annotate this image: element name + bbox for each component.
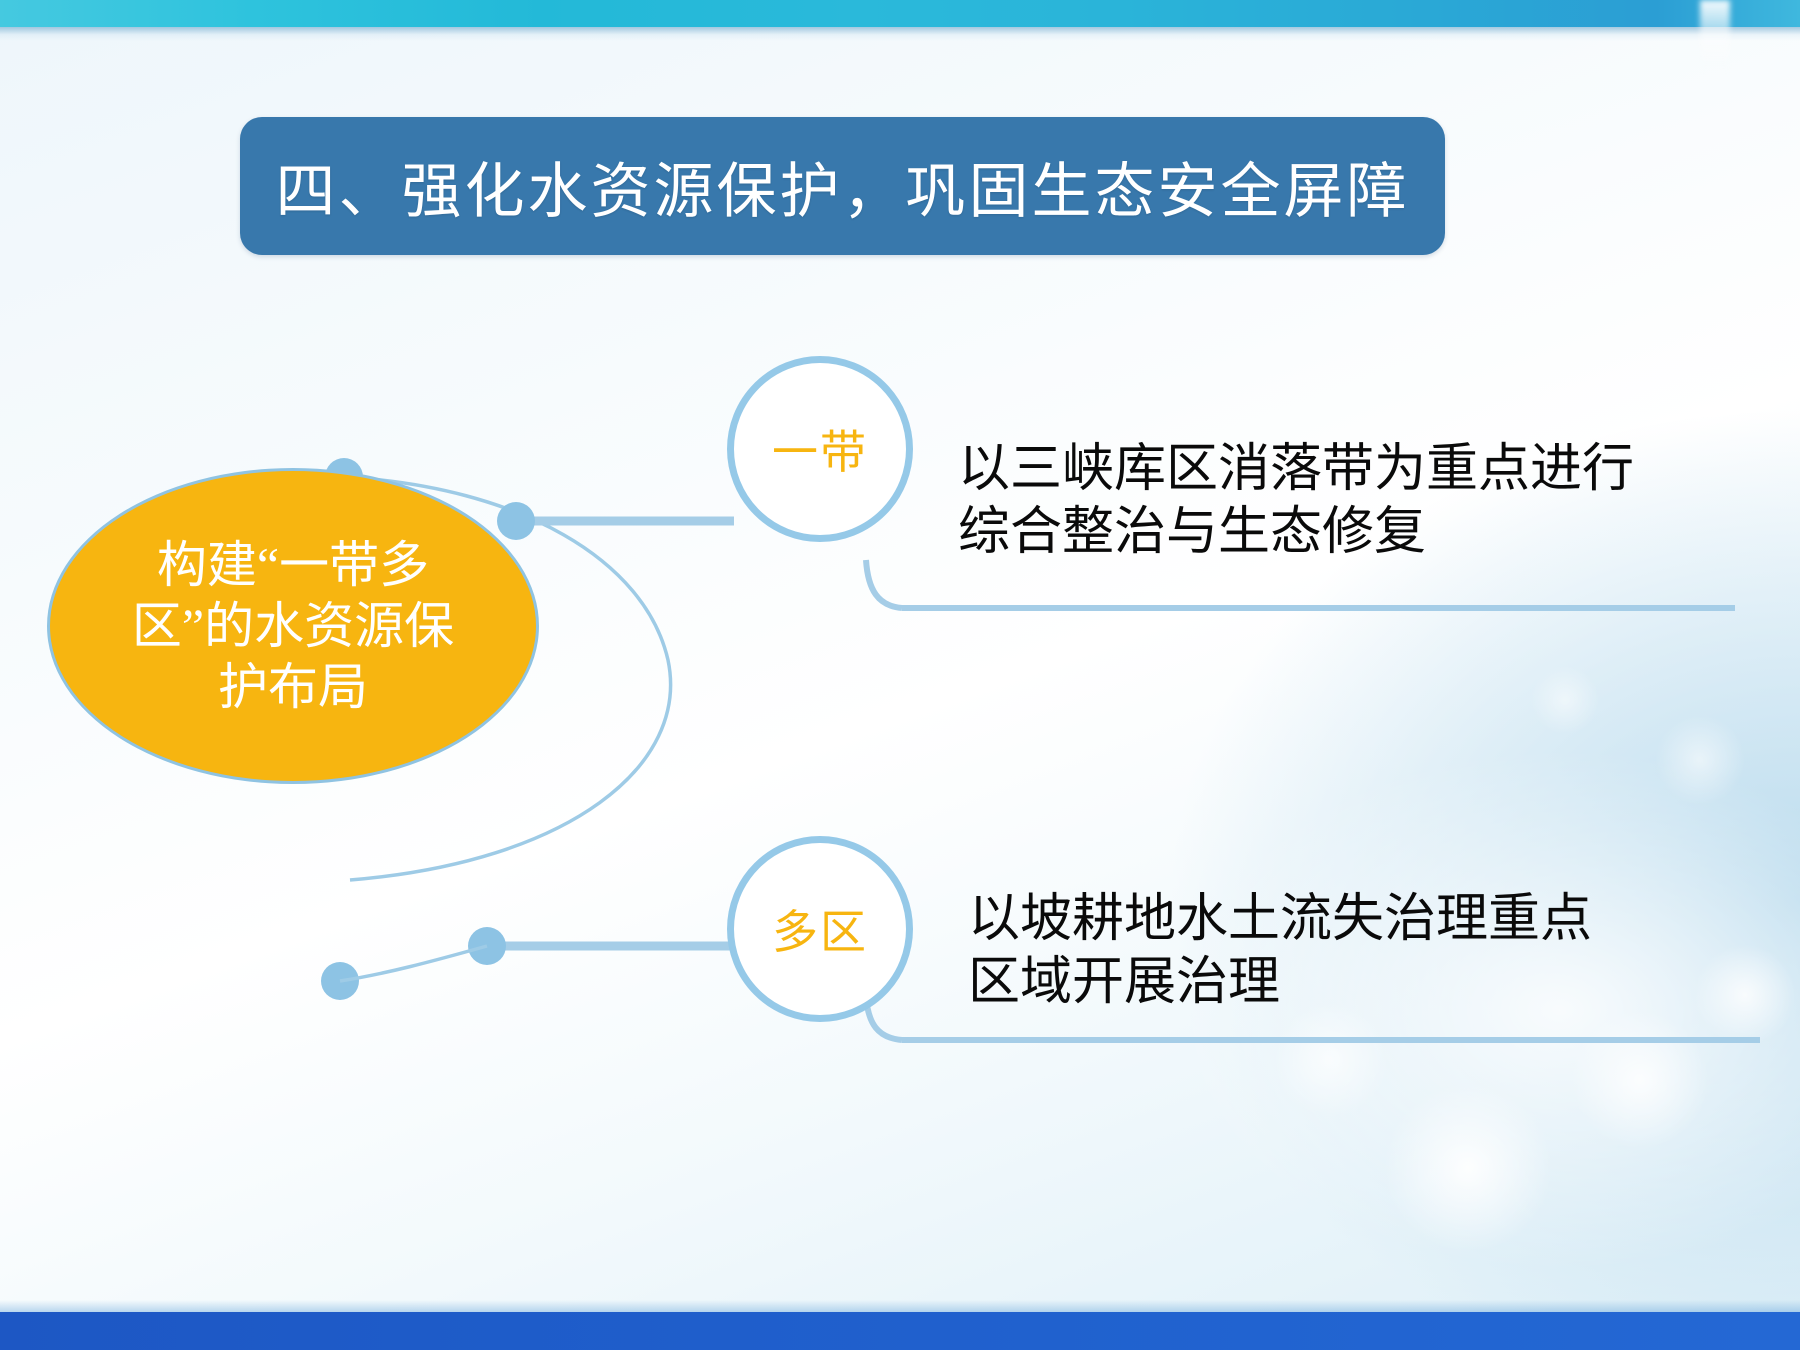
core-concept-ellipse[interactable]: 构建“一带多区”的水资源保护布局 <box>47 468 539 784</box>
branch-description-line: 综合整治与生态修复 <box>958 501 1728 564</box>
branch-description-line: 以三峡库区消落带为重点进行 <box>958 438 1728 501</box>
presentation-slide: 四、强化水资源保护，巩固生态安全屏障 构建“一带多区”的水资源保护布局 一带 以… <box>0 0 1800 1350</box>
underline-branch-1-elbow <box>866 560 902 608</box>
branch-node-label: 一带 <box>772 416 868 482</box>
branch-description-two: 以坡耕地水土流失治理重点 区域开展治理 <box>968 888 1738 1015</box>
branch-description-line: 区域开展治理 <box>968 951 1738 1014</box>
bottom-decorative-band <box>0 1312 1800 1350</box>
branch-description-line: 以坡耕地水土流失治理重点 <box>968 888 1738 951</box>
branch-description-one: 以三峡库区消落带为重点进行 综合整治与生态修复 <box>958 438 1728 565</box>
branch-node-label: 多区 <box>772 896 868 962</box>
branch-node-one-dai[interactable]: 一带 <box>727 356 913 542</box>
bottom-band-highlight <box>0 1300 1800 1312</box>
orbit-dot-top-right <box>497 502 535 540</box>
branch-node-duo-qu[interactable]: 多区 <box>727 836 913 1022</box>
core-concept-label: 构建“一带多区”的水资源保护布局 <box>123 535 463 718</box>
orbit-curve-lower <box>340 946 487 981</box>
